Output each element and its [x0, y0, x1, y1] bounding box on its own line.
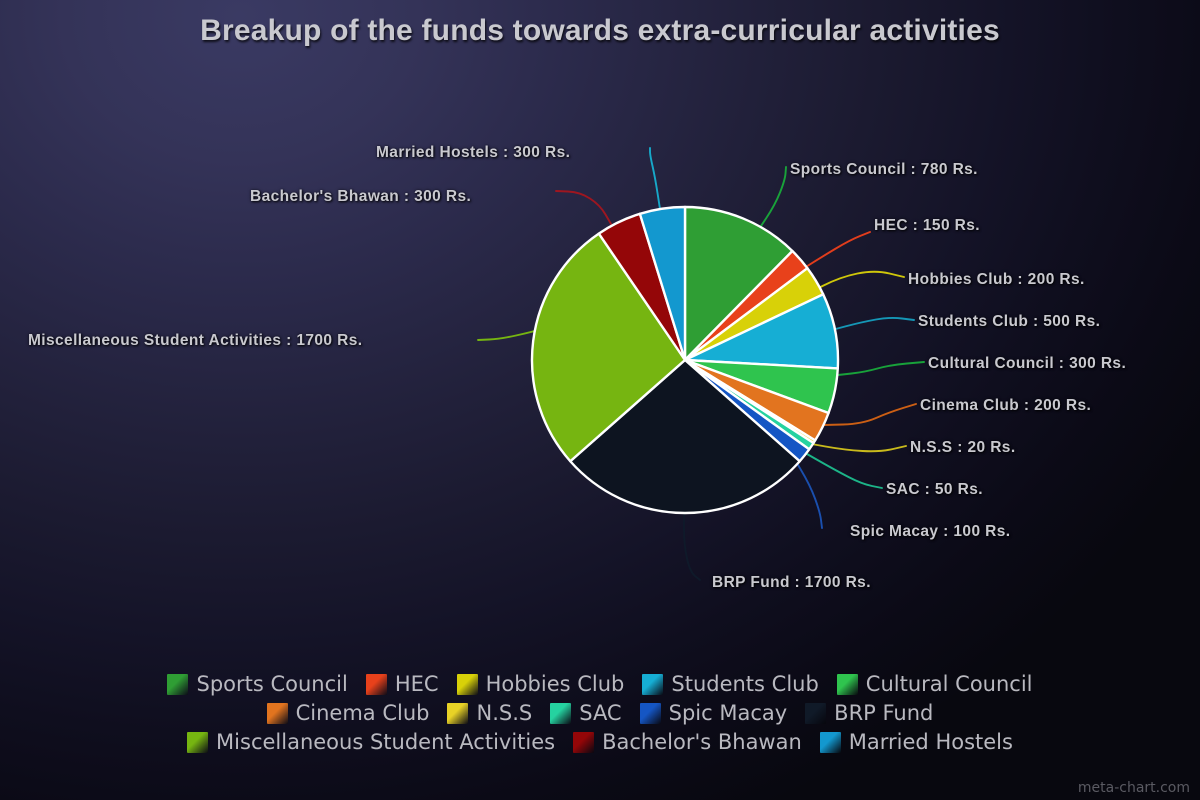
callout-label-cultural-council: Cultural Council : 300 Rs. [928, 355, 1126, 373]
callout-leader-line [800, 450, 882, 488]
legend-swatch-icon [167, 674, 188, 695]
callout-label-sports-council: Sports Council : 780 Rs. [790, 161, 978, 179]
legend-item-label: HEC [395, 672, 439, 696]
callout-label-nss: N.S.S : 20 Rs. [910, 439, 1016, 457]
legend-item-brp-fund[interactable]: BRP Fund [805, 701, 933, 725]
legend-item-married-hostels[interactable]: Married Hostels [820, 730, 1013, 754]
callout-leader-line [838, 362, 924, 375]
legend-swatch-icon [837, 674, 858, 695]
callout-leader-line [824, 404, 916, 425]
legend-item-label: Cinema Club [296, 701, 430, 725]
callout-label-students-club: Students Club : 500 Rs. [918, 313, 1100, 331]
legend-swatch-icon [447, 703, 468, 724]
legend-item-label: Miscellaneous Student Activities [216, 730, 555, 754]
legend-swatch-icon [573, 732, 594, 753]
legend-row: Cinema ClubN.S.SSACSpic MacayBRP Fund [267, 701, 934, 725]
callout-label-hec: HEC : 150 Rs. [874, 217, 980, 235]
legend-item-label: Spic Macay [669, 701, 788, 725]
legend-item-label: Bachelor's Bhawan [602, 730, 802, 754]
legend-item-students-club[interactable]: Students Club [642, 672, 818, 696]
pie-slices [532, 207, 838, 513]
legend-item-label: Cultural Council [866, 672, 1033, 696]
chart-legend: Sports CouncilHECHobbies ClubStudents Cl… [0, 672, 1200, 754]
callout-leader-line [806, 443, 906, 451]
legend-swatch-icon [642, 674, 663, 695]
watermark: meta-chart.com [1078, 780, 1190, 796]
legend-item-sac[interactable]: SAC [550, 701, 621, 725]
callout-label-spic-macay: Spic Macay : 100 Rs. [850, 523, 1011, 541]
legend-row: Sports CouncilHECHobbies ClubStudents Cl… [167, 672, 1032, 696]
chart-canvas: Breakup of the funds towards extra-curri… [0, 0, 1200, 800]
legend-item-sports-council[interactable]: Sports Council [167, 672, 347, 696]
legend-item-hobbies-club[interactable]: Hobbies Club [457, 672, 625, 696]
legend-item-label: Married Hostels [849, 730, 1013, 754]
legend-swatch-icon [640, 703, 661, 724]
legend-item-cinema-club[interactable]: Cinema Club [267, 701, 430, 725]
legend-swatch-icon [187, 732, 208, 753]
legend-item-n-s-s[interactable]: N.S.S [447, 701, 532, 725]
legend-item-label: Students Club [671, 672, 818, 696]
legend-swatch-icon [805, 703, 826, 724]
callout-leader-line [556, 191, 611, 224]
callout-label-sac: SAC : 50 Rs. [886, 481, 983, 499]
callout-label-hobbies-club: Hobbies Club : 200 Rs. [908, 271, 1085, 289]
callout-label-brp-fund: BRP Fund : 1700 Rs. [712, 574, 871, 592]
legend-item-label: SAC [579, 701, 621, 725]
callout-leader-line [684, 513, 700, 580]
legend-item-miscellaneous-student-activities[interactable]: Miscellaneous Student Activities [187, 730, 555, 754]
callout-leader-line [650, 148, 660, 209]
legend-item-cultural-council[interactable]: Cultural Council [837, 672, 1033, 696]
callout-leader-line [757, 167, 786, 232]
legend-item-label: Sports Council [196, 672, 347, 696]
callout-label-miscellaneous: Miscellaneous Student Activities : 1700 … [28, 332, 362, 350]
legend-item-spic-macay[interactable]: Spic Macay [640, 701, 788, 725]
legend-swatch-icon [267, 703, 288, 724]
legend-item-label: Hobbies Club [486, 672, 625, 696]
legend-item-label: BRP Fund [834, 701, 933, 725]
legend-swatch-icon [457, 674, 478, 695]
legend-swatch-icon [820, 732, 841, 753]
legend-item-hec[interactable]: HEC [366, 672, 439, 696]
callout-label-married-hostels: Married Hostels : 300 Rs. [376, 144, 570, 162]
legend-swatch-icon [550, 703, 571, 724]
legend-row: Miscellaneous Student ActivitiesBachelor… [187, 730, 1013, 754]
callout-label-cinema-club: Cinema Club : 200 Rs. [920, 397, 1091, 415]
callout-label-bachelors-bhawan: Bachelor's Bhawan : 300 Rs. [250, 188, 471, 206]
callout-leader-line [828, 318, 914, 331]
legend-item-label: N.S.S [476, 701, 532, 725]
legend-swatch-icon [366, 674, 387, 695]
legend-item-bachelor-s-bhawan[interactable]: Bachelor's Bhawan [573, 730, 802, 754]
